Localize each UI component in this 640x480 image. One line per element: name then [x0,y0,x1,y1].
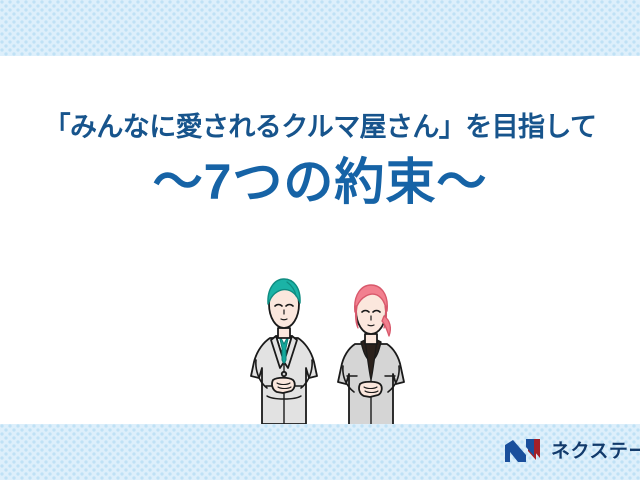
two-staff-bowing-illustration [243,276,413,428]
nextage-logo: ネクステージ [504,438,640,464]
female-staff-figure [338,285,404,426]
staff-illustration-svg [243,276,413,428]
nextage-logo-text: ネクステージ [551,442,640,461]
headline-block: 「みんなに愛されるクルマ屋さん」を目指して 〜7つの約束〜 [0,112,640,210]
headline-line-1: 「みんなに愛されるクルマ屋さん」を目指して [0,112,640,143]
male-staff-figure [251,279,317,424]
top-dot-band [0,0,640,56]
headline-line-2: 〜7つの約束〜 [0,155,640,210]
promise-banner: 「みんなに愛されるクルマ屋さん」を目指して 〜7つの約束〜 [0,0,640,480]
nextage-n-mark-icon [504,438,544,464]
